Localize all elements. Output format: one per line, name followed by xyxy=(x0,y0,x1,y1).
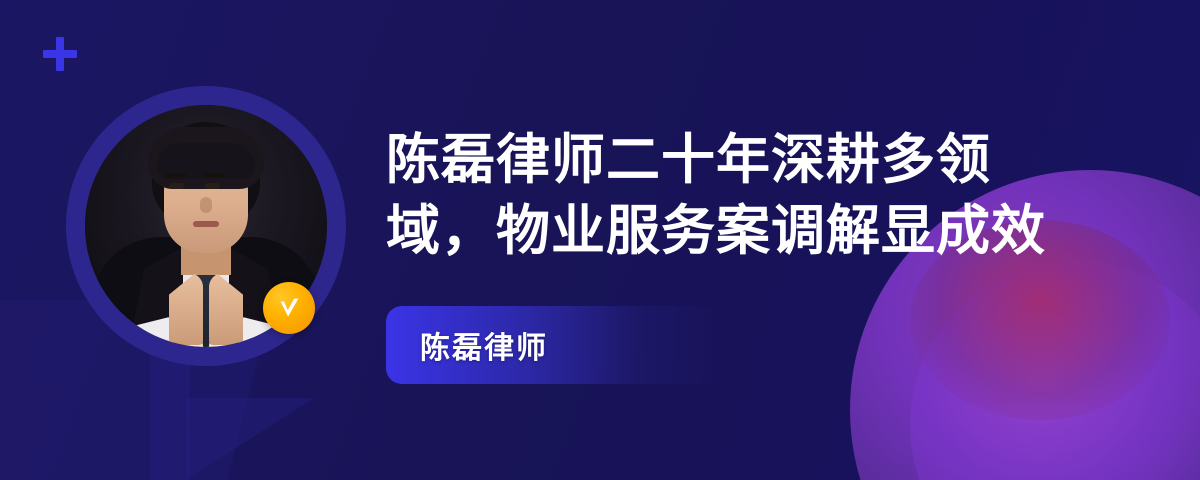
plus-icon xyxy=(42,36,78,72)
page-title: 陈磊律师二十年深耕多领域，物业服务案调解显成效 xyxy=(386,124,1086,267)
avatar[interactable] xyxy=(66,86,346,366)
author-name-label: 陈磊律师 xyxy=(420,323,548,367)
profile-banner: 陈磊律师二十年深耕多领域，物业服务案调解显成效 陈磊律师 xyxy=(0,0,1200,480)
content-column: 陈磊律师二十年深耕多领域，物业服务案调解显成效 陈磊律师 xyxy=(386,124,1176,267)
author-name-chip[interactable]: 陈磊律师 xyxy=(386,306,716,384)
verified-check-icon xyxy=(263,282,315,334)
